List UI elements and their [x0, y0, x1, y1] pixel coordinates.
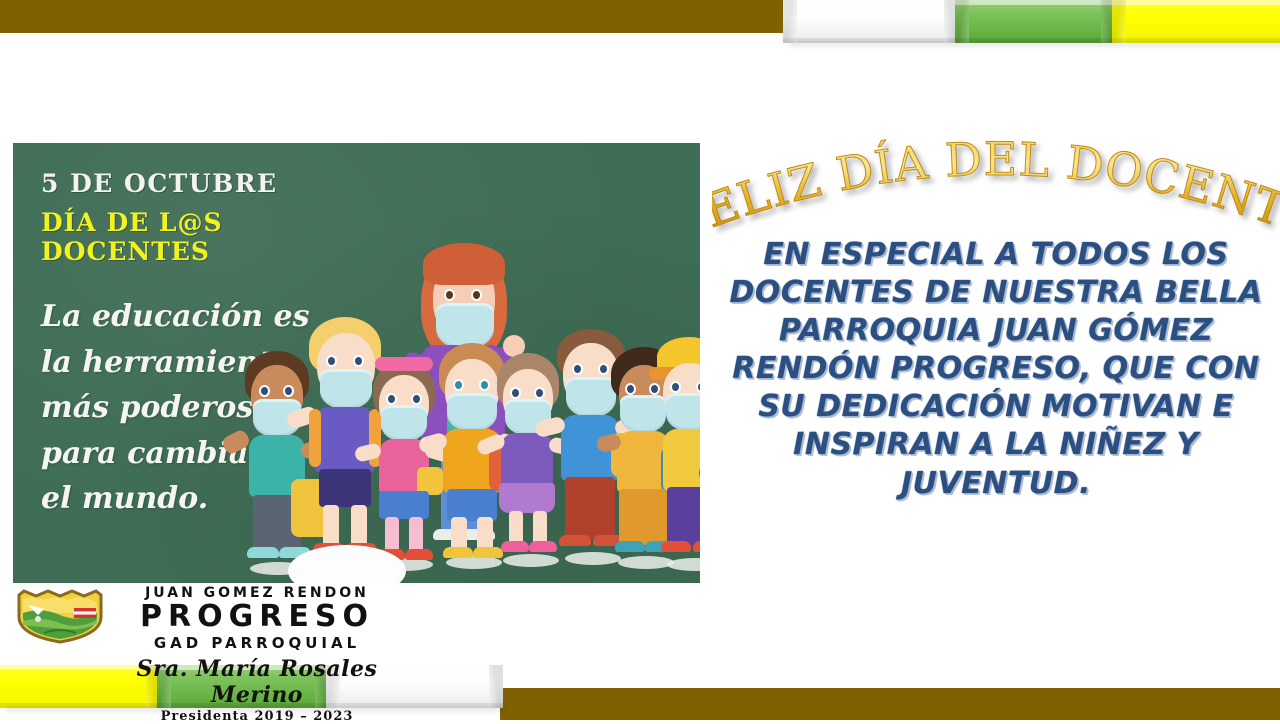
- child-4-eye-right: [479, 379, 490, 391]
- child-5-eye-right: [534, 387, 545, 399]
- child-3-eye-left: [386, 393, 397, 405]
- child-1-shoe-left: [247, 547, 279, 558]
- teacher-eye-left: [444, 289, 455, 301]
- child-8-pants: [667, 487, 700, 545]
- child-3-leg-right: [409, 517, 423, 553]
- child-3-leg-left: [385, 517, 399, 553]
- child-3-mask: [381, 405, 427, 441]
- child-5-eye-left: [510, 387, 521, 399]
- brown-band-bottom: [500, 688, 1280, 720]
- org-name-line-2: PROGRESO: [112, 602, 402, 632]
- wordart-title: FELIZ DÍA DEL DOCENTE: [712, 128, 1280, 236]
- child-8-eye-right: [696, 381, 700, 393]
- teacher-fringe: [423, 243, 505, 285]
- message-line-1: EN ESPECIAL A TODOS LOS: [718, 236, 1274, 274]
- child-4-shoe-left: [443, 547, 473, 558]
- child-4-mask: [447, 393, 497, 431]
- org-name-line-3: GAD PARROQUIAL: [112, 634, 402, 652]
- child-3-eye-right: [411, 393, 422, 405]
- teacher-eye-right: [471, 289, 482, 301]
- child-8-shoe-right: [693, 541, 700, 552]
- president-name: Sra. María Rosales Merino: [112, 656, 402, 708]
- message-body: EN ESPECIAL A TODOS LOS DOCENTES DE NUES…: [718, 236, 1274, 503]
- gad-crest-icon: [14, 589, 106, 644]
- child-8-floor-pad: [667, 558, 700, 571]
- child-4-eye-left: [453, 379, 464, 391]
- child-5-shoe-left: [501, 541, 529, 552]
- child-5-leg-left: [509, 511, 523, 545]
- child-7-eye-left: [625, 383, 636, 395]
- child-5-skirt: [499, 483, 555, 513]
- brown-band-top: [0, 0, 783, 33]
- child-1-eye-right: [283, 385, 294, 397]
- child-6-eye-left: [572, 363, 583, 375]
- message-line-3: PARROQUIA JUAN GÓMEZ: [718, 312, 1274, 350]
- child-4-leg-left: [451, 517, 467, 551]
- chip-top-green: [955, 0, 1115, 43]
- child-8-shoe-left: [661, 541, 691, 552]
- child-2-backpack-strap: [309, 409, 321, 467]
- slide-canvas: 5 DE OCTUBRE DÍA DE L@S DOCENTES La educ…: [0, 0, 1280, 720]
- child-3-shoe-right: [405, 549, 433, 560]
- president-role: Presidenta 2019 – 2023: [112, 709, 402, 724]
- chalkboard-illustration: 5 DE OCTUBRE DÍA DE L@S DOCENTES La educ…: [13, 143, 700, 583]
- child-3-skirt: [379, 491, 429, 519]
- message-column: FELIZ DÍA DEL DOCENTE EN ESPECIAL A TODO…: [712, 128, 1280, 568]
- footer-text-block: JUAN GOMEZ RENDON PROGRESO GAD PARROQUIA…: [112, 585, 402, 724]
- child-8-jacket: [663, 429, 700, 491]
- child-5-dress: [501, 433, 553, 489]
- chip-top-white: [783, 0, 958, 43]
- message-line-6: INSPIRAN A LA NIÑEZ Y: [718, 426, 1274, 464]
- child-2-shorts: [319, 469, 371, 507]
- chalkboard-date: 5 DE OCTUBRE: [41, 169, 371, 198]
- child-8-mask: [666, 393, 700, 431]
- message-line-5: SU DEDICACIÓN MOTIVAN E: [718, 388, 1274, 426]
- footer-branding: JUAN GOMEZ RENDON PROGRESO GAD PARROQUIA…: [8, 585, 408, 663]
- chip-top-yellow: [1112, 0, 1280, 43]
- child-2-eye-left: [326, 355, 337, 367]
- chalkboard-title: DÍA DE L@S DOCENTES: [41, 208, 371, 266]
- wordart-title-text: FELIZ DÍA DEL DOCENTE: [712, 128, 1280, 236]
- child-8-eye-left: [670, 381, 681, 393]
- child-6-shoe-left: [559, 535, 591, 546]
- message-line-7: JUVENTUD.: [718, 465, 1274, 503]
- child-7-shoe-left: [615, 541, 645, 552]
- child-2-eye-right: [353, 355, 364, 367]
- figure-child-8: [651, 337, 700, 573]
- child-1-eye-left: [259, 385, 270, 397]
- svg-text:FELIZ DÍA DEL DOCENTE: FELIZ DÍA DEL DOCENTE: [712, 128, 1280, 236]
- child-3-headband: [375, 357, 433, 371]
- message-line-2: DOCENTES DE NUESTRA BELLA: [718, 274, 1274, 312]
- child-5-leg-right: [533, 511, 547, 545]
- message-line-4: RENDÓN PROGRESO, QUE CON: [718, 350, 1274, 388]
